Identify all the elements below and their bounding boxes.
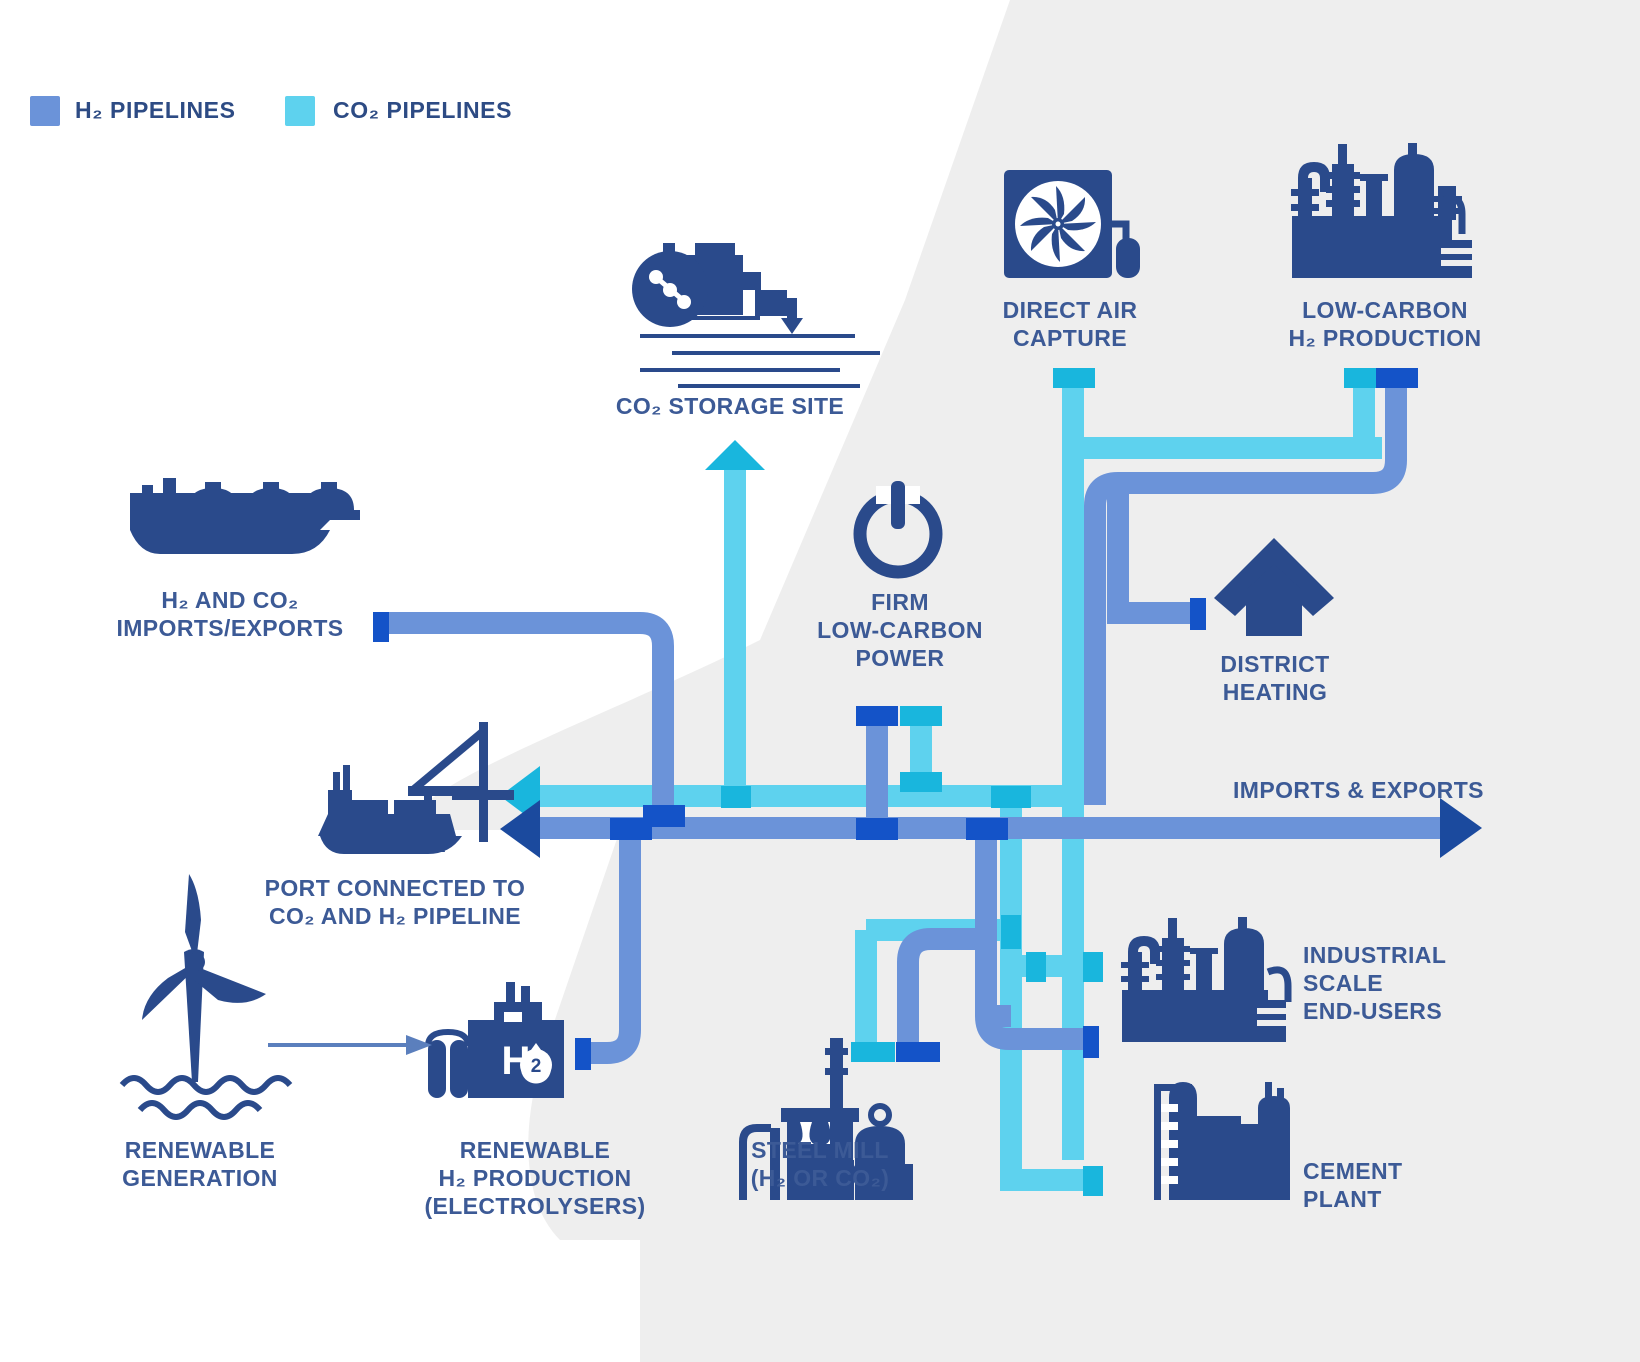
legend-label-co2: CO₂ PIPELINES [333, 97, 512, 124]
co2-cap-firmpower-bot [900, 772, 942, 792]
svg-text:2: 2 [531, 1056, 542, 1077]
label-cement-plant-line1: CEMENT [1303, 1157, 1523, 1185]
label-steel-mill: STEEL MILL (H₂ OR CO₂) [695, 1136, 945, 1192]
co2-cap-cement [1083, 1166, 1103, 1196]
label-renewable-generation-line2: GENERATION [75, 1164, 325, 1192]
label-direct-air-capture-line2: CAPTURE [940, 324, 1200, 352]
label-firm-power-line2: LOW-CARBON [775, 616, 1025, 644]
h2-cap-electrolyser-end [575, 1038, 591, 1070]
label-imports-exports-line2: IMPORTS/EXPORTS [85, 614, 375, 642]
port-crane-ship-icon [318, 722, 514, 854]
co2-cap-industrial-end [1083, 952, 1103, 982]
label-low-carbon-h2: LOW-CARBON H₂ PRODUCTION [1250, 296, 1520, 352]
label-port-line2: CO₂ AND H₂ PIPELINE [240, 902, 550, 930]
h2-cap-ship [373, 612, 389, 642]
label-renewable-h2-line1: RENEWABLE [390, 1136, 680, 1164]
h2-cap-industrial [1083, 1026, 1099, 1058]
h2-cap-steelmill [896, 1042, 940, 1062]
co2-cap-steelmill [851, 1042, 895, 1062]
label-renewable-h2-line3: (ELECTROLYSERS) [390, 1192, 680, 1220]
label-firm-power-line1: FIRM [775, 588, 1025, 616]
label-port: PORT CONNECTED TO CO₂ AND H₂ PIPELINE [240, 874, 550, 930]
h2-cap-electrolyser-top [610, 818, 652, 840]
label-low-carbon-h2-line2: H₂ PRODUCTION [1250, 324, 1520, 352]
label-industrial-line1: INDUSTRIAL [1303, 941, 1543, 969]
label-co2-storage-site: CO₂ STORAGE SITE [560, 392, 900, 420]
label-imports-exports-line1: H₂ AND CO₂ [85, 586, 375, 614]
co2-cap-firmpower-top [900, 706, 942, 726]
label-cement-plant: CEMENT PLANT [1303, 1157, 1523, 1213]
label-h2-co2-imports-exports: H₂ AND CO₂ IMPORTS/EXPORTS [85, 586, 375, 642]
legend-swatch-co2 [285, 96, 315, 126]
co2-cap-industrial [1026, 952, 1046, 982]
label-trunk-imports-exports: IMPORTS & EXPORTS [1233, 776, 1533, 804]
label-firm-power-line3: POWER [775, 644, 1025, 672]
co2-arrow-storage-up [705, 440, 765, 470]
label-renewable-generation: RENEWABLE GENERATION [75, 1136, 325, 1192]
legend-swatch-h2 [30, 96, 60, 126]
h2-cap-south-riser [966, 818, 1008, 840]
label-district-heating-line2: HEATING [1155, 678, 1395, 706]
label-direct-air-capture: DIRECT AIR CAPTURE [940, 296, 1200, 352]
label-renewable-h2-line2: H₂ PRODUCTION [390, 1164, 680, 1192]
legend-label-h2: H₂ PIPELINES [75, 97, 236, 124]
h2-cap-district-heating [1190, 598, 1206, 630]
label-district-heating-line1: DISTRICT [1155, 650, 1395, 678]
infographic-canvas: H 2 [0, 0, 1640, 1362]
lng-carrier-ship-icon [130, 478, 360, 554]
h2-cap-firmpower-bot [856, 818, 898, 840]
label-industrial-line3: END-USERS [1303, 997, 1543, 1025]
label-port-line1: PORT CONNECTED TO [240, 874, 550, 902]
h2-cap-lch2 [1376, 368, 1418, 388]
h2-cap-firmpower-top [856, 706, 898, 726]
co2-cap-crossing [1001, 915, 1021, 949]
label-cement-plant-line2: PLANT [1303, 1185, 1523, 1213]
label-industrial-line2: SCALE [1303, 969, 1543, 997]
co2-storage-tank-icon [632, 243, 880, 386]
label-direct-air-capture-line1: DIRECT AIR [940, 296, 1200, 324]
electrolyser-plant-icon: H 2 [428, 982, 564, 1098]
label-steel-mill-line1: STEEL MILL [695, 1136, 945, 1164]
co2-cap-storage-riser [721, 786, 751, 808]
label-renewable-h2-production: RENEWABLE H₂ PRODUCTION (ELECTROLYSERS) [390, 1136, 680, 1220]
renewable-to-electrolyser-arrow [268, 1030, 448, 1060]
label-steel-mill-line2: (H₂ OR CO₂) [695, 1164, 945, 1192]
label-renewable-generation-line1: RENEWABLE [75, 1136, 325, 1164]
label-firm-low-carbon-power: FIRM LOW-CARBON POWER [775, 588, 1025, 672]
label-district-heating: DISTRICT HEATING [1155, 650, 1395, 706]
label-industrial-end-users: INDUSTRIAL SCALE END-USERS [1303, 941, 1543, 1025]
co2-cap-south-riser [991, 786, 1031, 808]
label-low-carbon-h2-line1: LOW-CARBON [1250, 296, 1520, 324]
co2-cap-dac [1053, 368, 1095, 388]
